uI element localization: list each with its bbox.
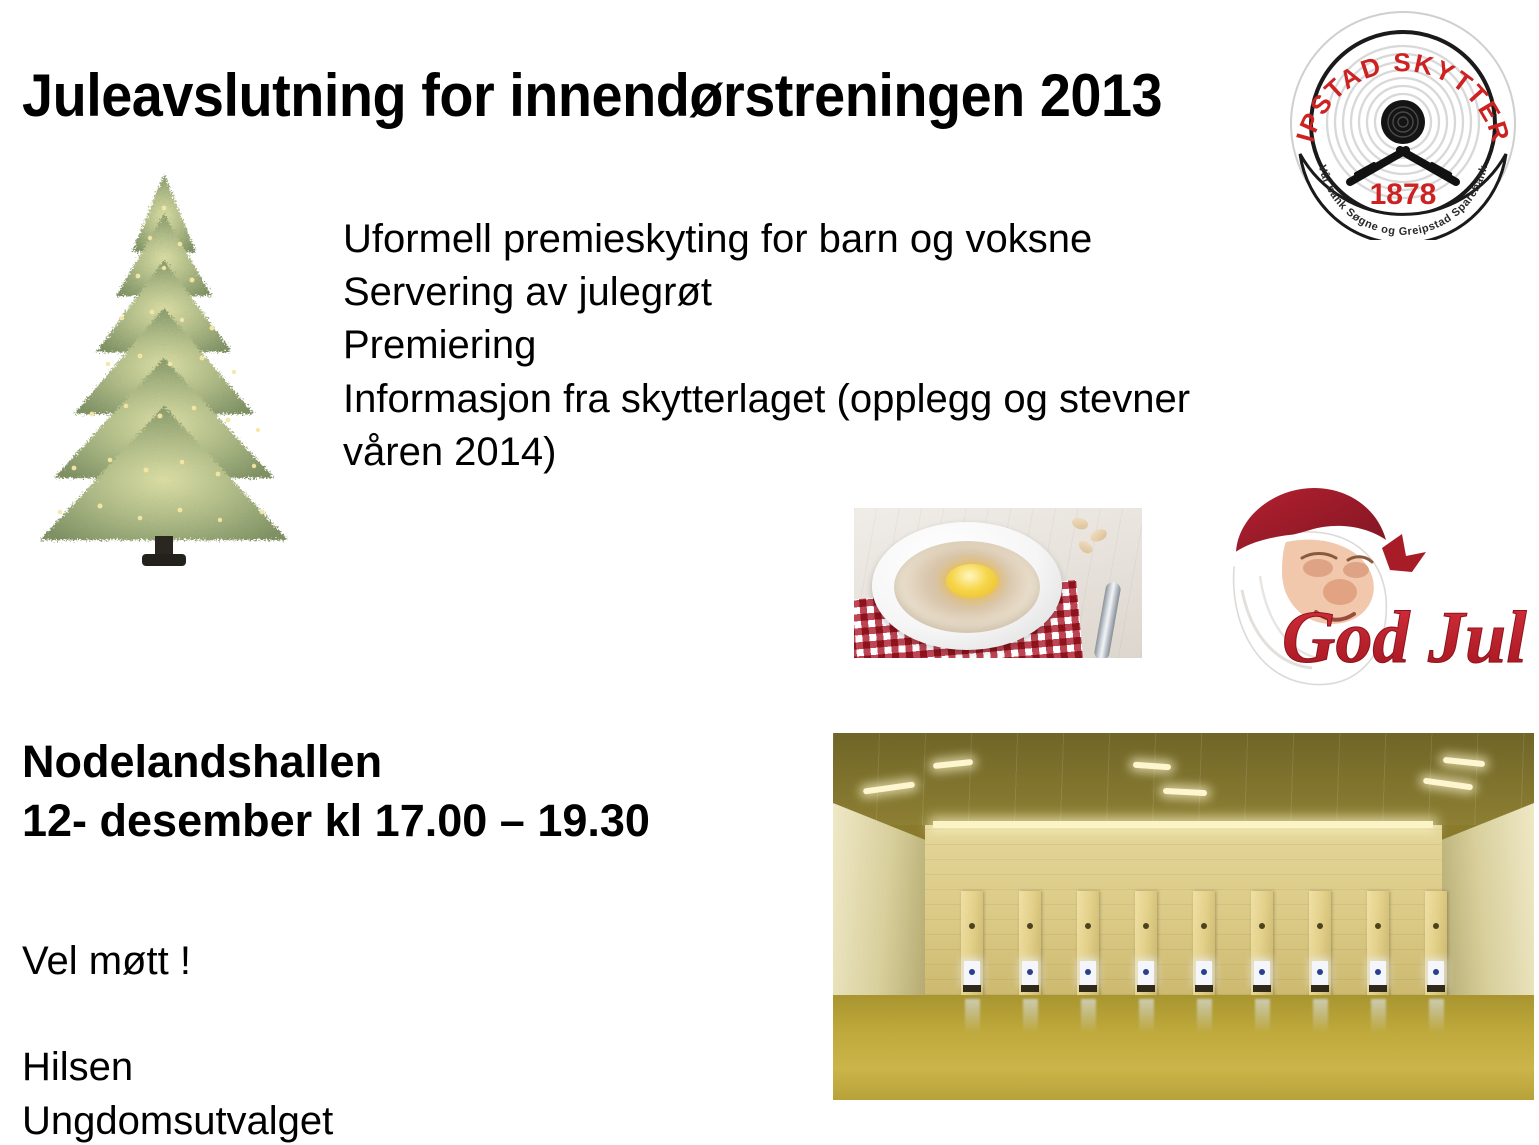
target-base-8	[1369, 985, 1387, 992]
target-face-1	[964, 961, 980, 985]
god-jul-greeting: God Jul	[1282, 597, 1527, 679]
venue-name: Nodelandshallen	[22, 733, 782, 792]
target-base-2	[1021, 985, 1039, 992]
target-reflection-7	[1313, 999, 1328, 1033]
target-base-1	[963, 985, 981, 992]
venue-and-time: Nodelandshallen 12- desember kl 17.00 – …	[22, 733, 782, 850]
target-reflection-9	[1429, 999, 1444, 1033]
target-face-3	[1080, 961, 1096, 985]
rice-porridge-photo	[854, 508, 1142, 658]
target-face-7	[1312, 961, 1328, 985]
target-reflection-8	[1371, 999, 1386, 1033]
slide-canvas: Juleavslutning for innendørstreningen 20…	[0, 0, 1539, 1145]
target-reflection-2	[1023, 999, 1038, 1033]
lane-hole	[1317, 923, 1323, 929]
lane-hole	[969, 923, 975, 929]
target-base-9	[1427, 985, 1445, 992]
signature-text: Ungdomsutvalget	[22, 1094, 622, 1145]
detail-line-1: Uformell premieskyting for barn og voksn…	[343, 213, 1243, 266]
target-reflection-6	[1255, 999, 1270, 1033]
target-face-4	[1138, 961, 1154, 985]
venue-datetime: 12- desember kl 17.00 – 19.30	[22, 792, 782, 851]
lane-hole	[1375, 923, 1381, 929]
lane-hole	[1085, 923, 1091, 929]
lane-hole	[1259, 923, 1265, 929]
target-base-4	[1137, 985, 1155, 992]
target-reflection-1	[965, 999, 980, 1033]
target-base-5	[1195, 985, 1213, 992]
regards-text: Hilsen	[22, 1040, 622, 1094]
santa-god-jul-image: God Jul	[1190, 472, 1534, 700]
target-face-5	[1196, 961, 1212, 985]
detail-line-5: våren 2014)	[343, 426, 1243, 479]
butter-knob	[946, 564, 998, 598]
event-details-text: Uformell premieskyting for barn og voksn…	[343, 213, 1243, 479]
lane-hole	[1143, 923, 1149, 929]
target-face-8	[1370, 961, 1386, 985]
indoor-shooting-range-photo	[833, 733, 1534, 1100]
target-reflection-3	[1081, 999, 1096, 1033]
target-face-2	[1022, 961, 1038, 985]
backwall-light-strip	[933, 821, 1433, 828]
target-base-3	[1079, 985, 1097, 992]
christmas-tree-image	[30, 168, 298, 568]
lane-hole	[1201, 923, 1207, 929]
lane-hole	[1433, 923, 1439, 929]
greipstad-skytterlag-logo: GREIPSTAD SKYTTERLAG 1878 Vår bank Søgne…	[1278, 4, 1528, 240]
detail-line-4: Informasjon fra skytterlaget (opplegg og…	[343, 373, 1243, 426]
logo-year: 1878	[1370, 178, 1437, 211]
target-base-7	[1311, 985, 1329, 992]
detail-line-3: Premiering	[343, 319, 1243, 372]
range-back-wall	[925, 825, 1442, 995]
target-reflection-4	[1139, 999, 1154, 1033]
closing-spacer	[22, 988, 622, 1040]
target-base-6	[1253, 985, 1271, 992]
detail-line-2: Servering av julegrøt	[343, 266, 1243, 319]
target-face-6	[1254, 961, 1270, 985]
closing-text: Vel møtt ! Hilsen Ungdomsutvalget	[22, 934, 622, 1145]
lane-hole	[1027, 923, 1033, 929]
target-reflection-5	[1197, 999, 1212, 1033]
greeting-text: Vel møtt !	[22, 934, 622, 988]
target-face-9	[1428, 961, 1444, 985]
page-title: Juleavslutning for innendørstreningen 20…	[22, 64, 1138, 127]
